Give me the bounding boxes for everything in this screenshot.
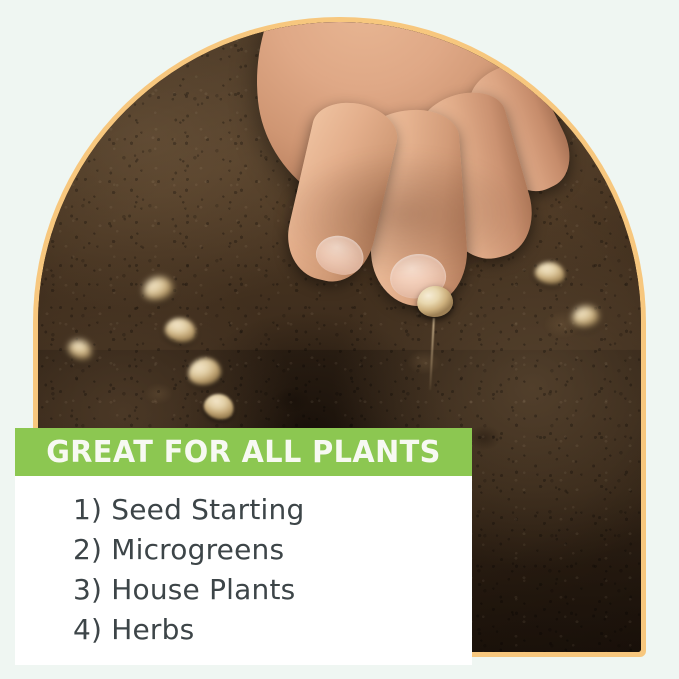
list-item: 4) Herbs [73,610,472,650]
list-item: 2) Microgreens [73,530,472,570]
uses-list-card: 1) Seed Starting 2) Microgreens 3) House… [15,476,472,665]
hand [238,22,568,324]
headline-banner: GREAT FOR ALL PLANTS [15,428,472,476]
list-item: 3) House Plants [73,570,472,610]
list-item: 1) Seed Starting [73,490,472,530]
headline-text: GREAT FOR ALL PLANTS [46,435,441,470]
poster-canvas: GREAT FOR ALL PLANTS 1) Seed Starting 2)… [0,0,679,679]
hand-shadow [278,154,528,304]
